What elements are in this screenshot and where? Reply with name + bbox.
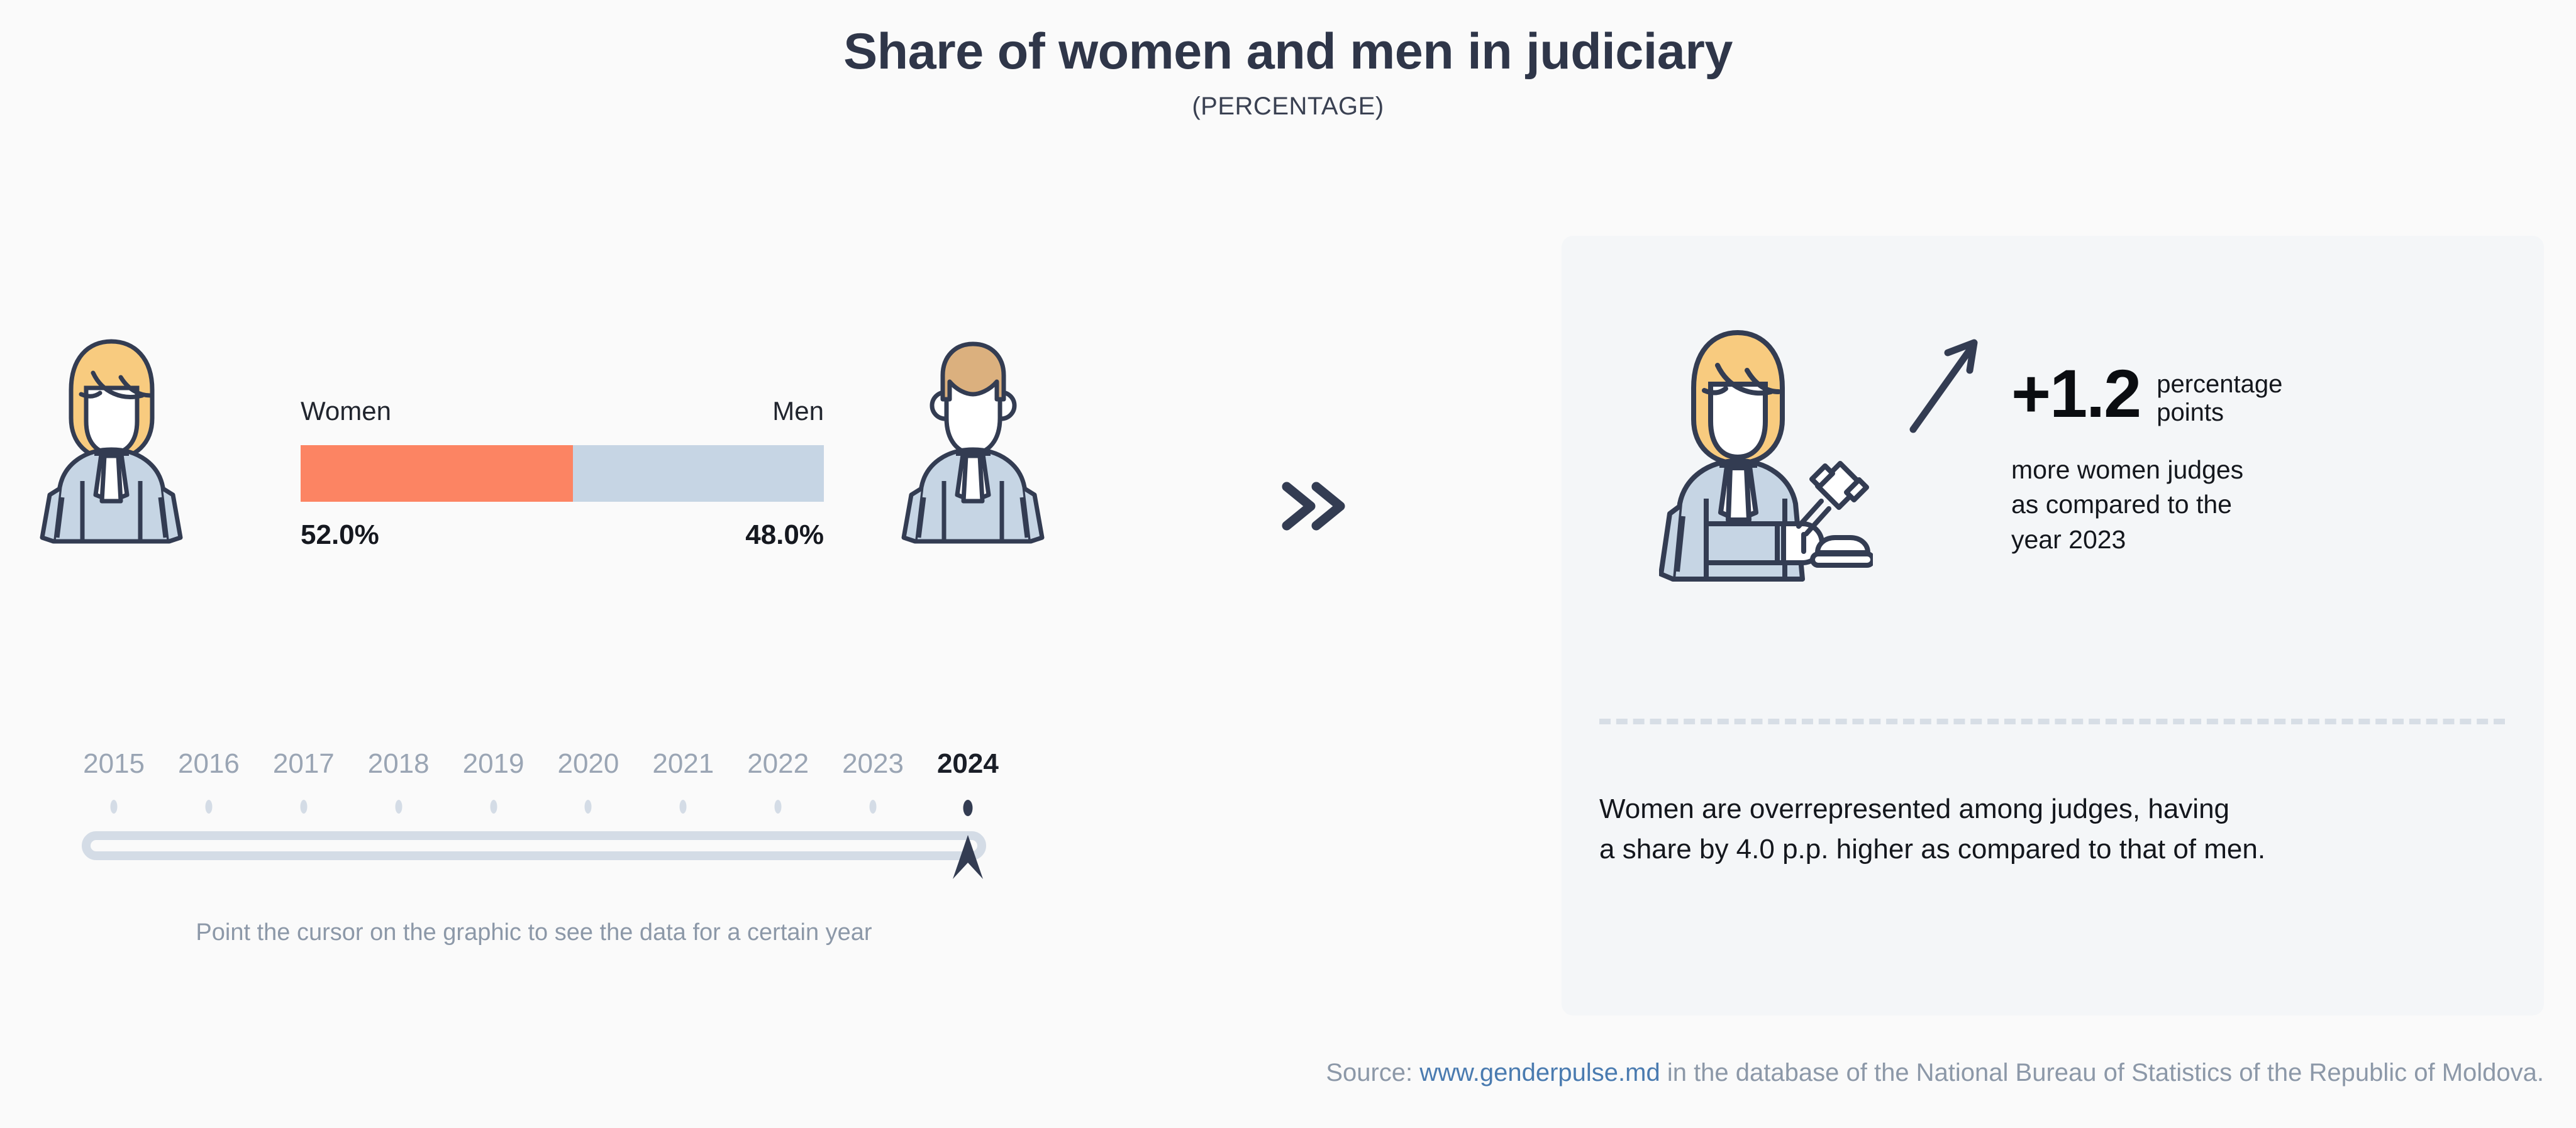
timeline-year-2024[interactable]: 2024 — [937, 748, 999, 780]
woman-judge-avatar-icon — [35, 330, 189, 547]
woman-judge-with-gavel-icon — [1659, 318, 1873, 585]
timeline-dot-2016[interactable] — [205, 800, 212, 814]
bar-segment-men[interactable] — [573, 445, 824, 502]
header: Share of women and men in judiciary (PER… — [0, 24, 2576, 121]
panel-divider — [1599, 719, 2505, 724]
timeline-dot-2020[interactable] — [585, 800, 592, 814]
insight-note-line2: a share by 4.0 p.p. higher as compared t… — [1599, 834, 2265, 865]
timeline-year-2020[interactable]: 2020 — [557, 748, 619, 780]
bar-value-row: 52.0% 48.0% — [301, 519, 824, 551]
source-prefix: Source: — [1326, 1059, 1419, 1087]
timeline-year-2022[interactable]: 2022 — [747, 748, 809, 780]
source-suffix: in the database of the National Bureau o… — [1660, 1059, 2544, 1087]
slider-cursor-icon[interactable] — [953, 835, 983, 879]
delta-description-line1: more women judges — [2011, 455, 2243, 484]
bar-segment-women[interactable] — [301, 445, 573, 502]
bar-legend: Women Men — [301, 396, 824, 426]
bar-track[interactable] — [301, 445, 824, 502]
timeline-year-labels[interactable]: 2015201620172018201920202021202220232024 — [82, 748, 1000, 786]
bar-label-men: Men — [772, 396, 824, 426]
year-timeline[interactable]: 2015201620172018201920202021202220232024… — [82, 748, 1000, 946]
timeline-dot-2021[interactable] — [680, 800, 687, 814]
timeline-slider-track[interactable] — [82, 831, 986, 860]
timeline-dot-2024[interactable] — [963, 800, 972, 816]
delta-unit: percentage points — [2157, 370, 2282, 427]
chart-block: Women Men 52.0% 48.0% — [0, 233, 1509, 987]
timeline-year-dots[interactable] — [82, 800, 1000, 825]
timeline-year-2016[interactable]: 2016 — [178, 748, 240, 780]
man-judge-avatar-icon — [896, 330, 1050, 547]
delta-description: more women judges as compared to the yea… — [2011, 453, 2243, 557]
insight-note-line1: Women are overrepresented among judges, … — [1599, 793, 2229, 824]
timeline-year-2018[interactable]: 2018 — [368, 748, 430, 780]
page-subtitle: (PERCENTAGE) — [0, 92, 2576, 121]
delta-unit-line1: percentage — [2157, 370, 2282, 398]
timeline-dot-2022[interactable] — [775, 800, 782, 814]
timeline-hint: Point the cursor on the graphic to see t… — [82, 919, 986, 946]
timeline-year-2021[interactable]: 2021 — [652, 748, 714, 780]
insight-panel: +1.2 percentage points more women judges… — [1562, 236, 2544, 1015]
source-link[interactable]: www.genderpulse.md — [1419, 1059, 1660, 1087]
share-bar-chart[interactable]: Women Men 52.0% 48.0% — [301, 396, 824, 551]
page-title: Share of women and men in judiciary — [0, 24, 2576, 80]
bar-value-men: 48.0% — [745, 519, 824, 551]
timeline-year-2015[interactable]: 2015 — [83, 748, 145, 780]
delta-value: +1.2 — [2011, 362, 2140, 426]
delta-unit-line2: points — [2157, 399, 2224, 426]
delta-description-line2: as compared to the — [2011, 490, 2232, 519]
insight-top: +1.2 percentage points more women judges… — [1562, 236, 2544, 701]
insight-note: Women are overrepresented among judges, … — [1599, 789, 2511, 870]
bar-value-women: 52.0% — [301, 519, 379, 551]
timeline-year-2019[interactable]: 2019 — [463, 748, 525, 780]
delta-row: +1.2 percentage points — [2011, 362, 2282, 427]
trend-up-arrow-icon — [1904, 330, 1986, 440]
source-footer: Source: www.genderpulse.md in the databa… — [0, 1059, 2544, 1087]
timeline-dot-2023[interactable] — [870, 800, 877, 814]
timeline-dot-2015[interactable] — [111, 800, 118, 814]
bar-label-women: Women — [301, 396, 391, 426]
timeline-year-2023[interactable]: 2023 — [842, 748, 904, 780]
timeline-dot-2018[interactable] — [395, 800, 402, 814]
timeline-dot-2017[interactable] — [300, 800, 307, 814]
timeline-dot-2019[interactable] — [490, 800, 497, 814]
timeline-year-2017[interactable]: 2017 — [273, 748, 335, 780]
timeline-slider[interactable] — [82, 831, 1000, 894]
delta-description-line3: year 2023 — [2011, 525, 2126, 554]
double-chevron-right-icon — [1277, 478, 1352, 538]
